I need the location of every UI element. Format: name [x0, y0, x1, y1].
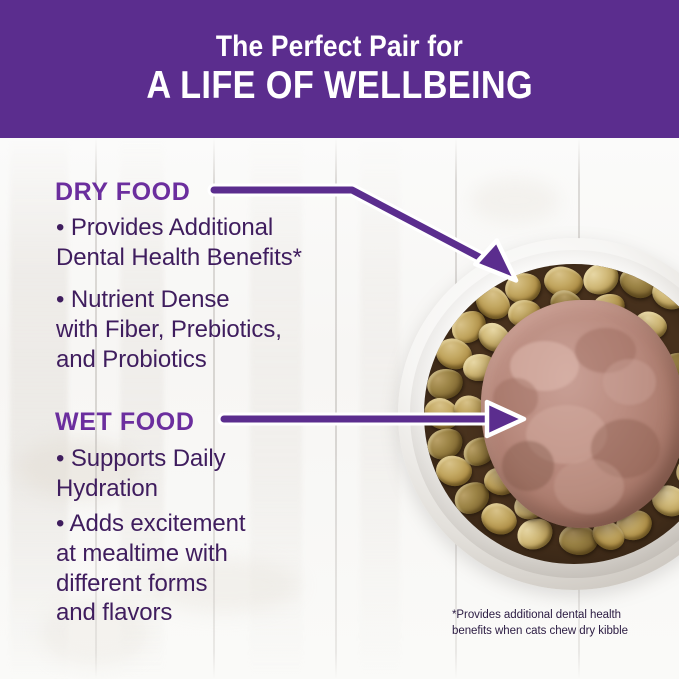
dry-food-bullet-1-line-2: Dental Health Benefits* [56, 243, 386, 273]
footnote-line-2: benefits when cats chew dry kibble [452, 624, 672, 640]
header-line-1: The Perfect Pair for [216, 31, 463, 63]
wet-food-bullet-2-line-4: and flavors [56, 598, 386, 628]
dry-food-bullet-2-line-1: • Nutrient Dense [56, 285, 386, 315]
header-banner: The Perfect Pair for A LIFE OF WELLBEING [0, 0, 679, 138]
wet-food-bullet-1: • Supports Daily Hydration [56, 444, 386, 504]
wet-food-mound [481, 300, 679, 527]
dry-food-bullet-2-line-3: and Probiotics [56, 345, 386, 375]
wet-food-bullet-2-line-2: at mealtime with [56, 539, 386, 569]
page-title: A LIFE OF WELLBEING [146, 66, 533, 107]
wet-food-bullet-2-line-1: • Adds excitement [56, 509, 386, 539]
wet-food-bullet-2: • Adds excitement at mealtime with diffe… [56, 509, 386, 628]
section-heading-dry-food: DRY FOOD [55, 178, 190, 207]
wet-food-bullet-1-line-1: • Supports Daily [56, 444, 386, 474]
footnote-line-1: *Provides additional dental health [452, 608, 672, 624]
pet-food-infographic: The Perfect Pair for A LIFE OF WELLBEING… [0, 0, 679, 679]
dry-food-bullet-1: • Provides Additional Dental Health Bene… [56, 213, 386, 273]
dry-food-bullet-1-line-1: • Provides Additional [56, 213, 386, 243]
footnote: *Provides additional dental health benef… [452, 608, 672, 639]
cat-food-bowl-photo [398, 238, 679, 590]
dry-food-bullet-2-line-2: with Fiber, Prebiotics, [56, 315, 386, 345]
wet-food-bullet-1-line-2: Hydration [56, 474, 386, 504]
wet-food-bullet-2-line-3: different forms [56, 569, 386, 599]
dry-food-bullet-2: • Nutrient Dense with Fiber, Prebiotics,… [56, 285, 386, 374]
section-heading-wet-food: WET FOOD [55, 408, 195, 437]
